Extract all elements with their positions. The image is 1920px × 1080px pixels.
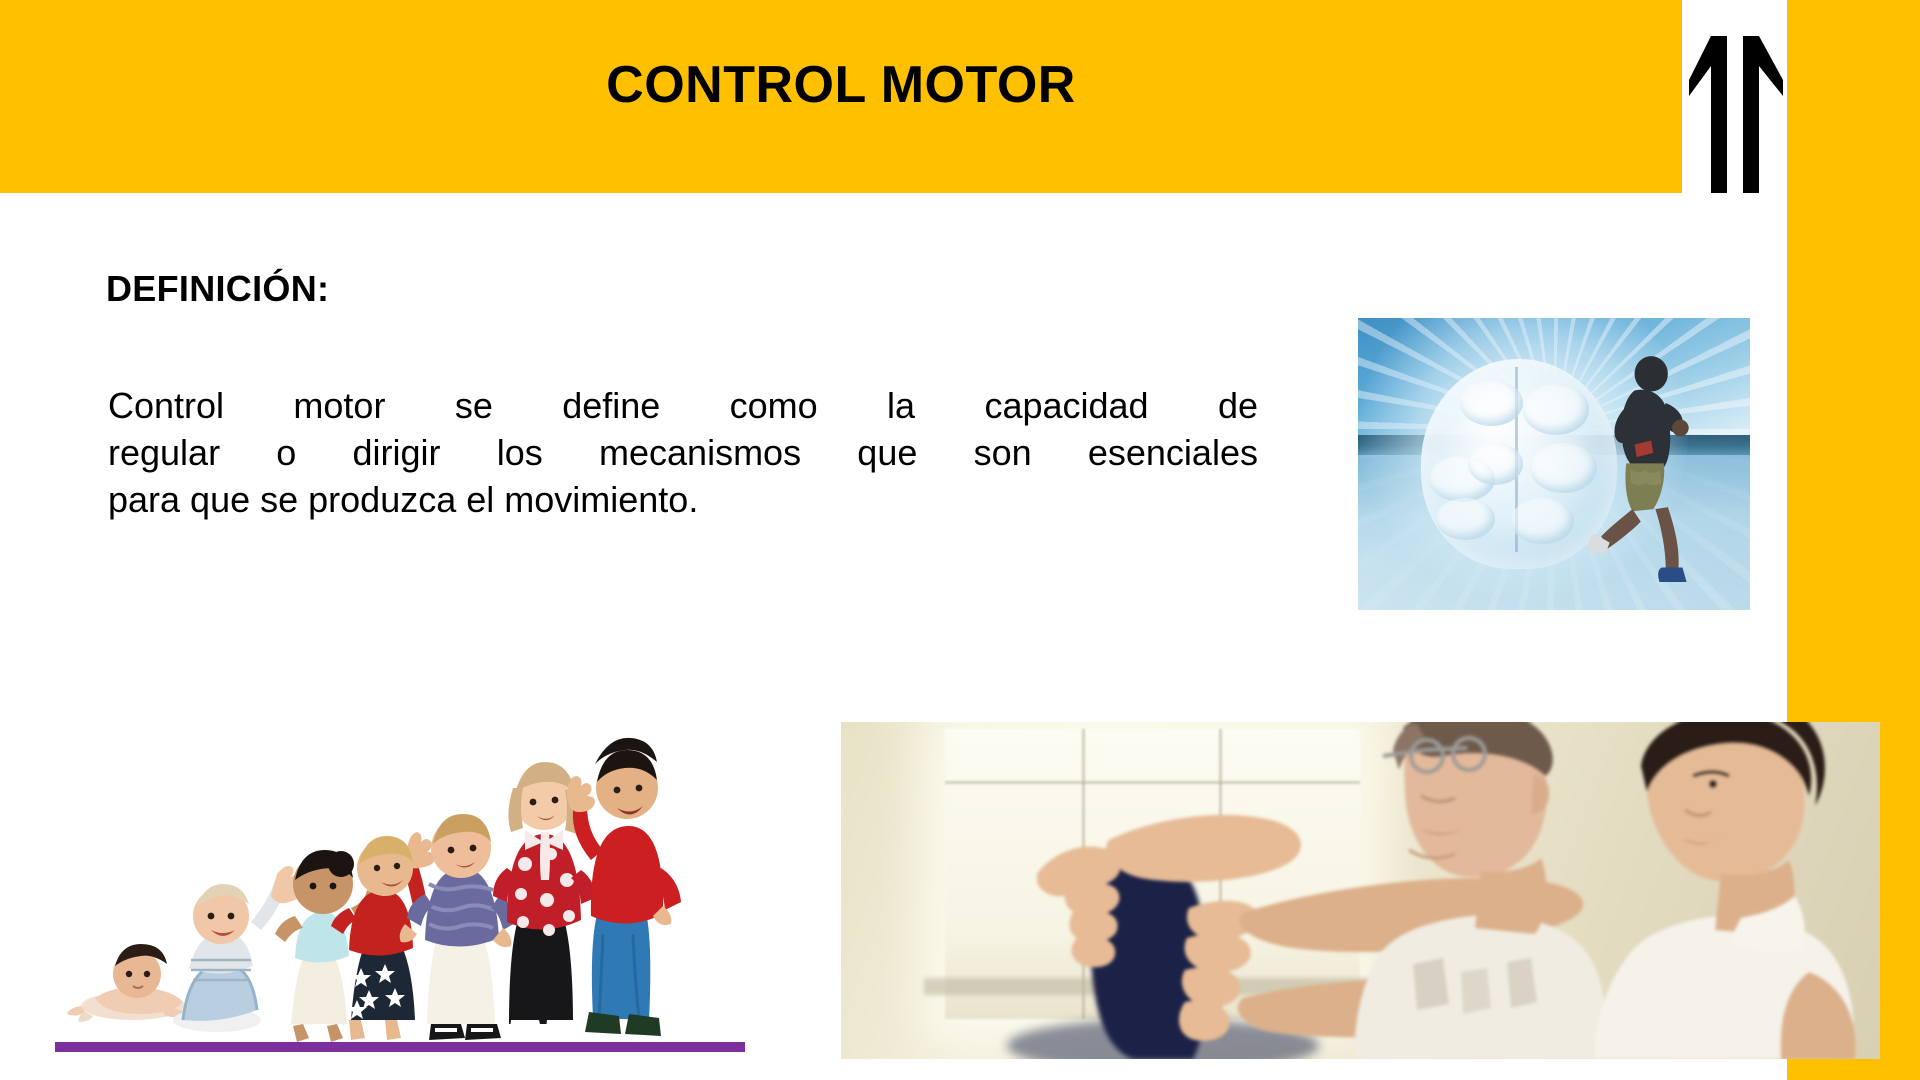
definition-word: o — [276, 430, 296, 477]
slide-canvas: CONTROL MOTOR DEFINICIÓN: Controlmotorse… — [0, 0, 1920, 1080]
definition-word: como — [730, 383, 818, 430]
definition-line-3: para que se produzca el movimiento. — [108, 477, 1258, 524]
definition-word: motor — [293, 383, 385, 430]
image-children-development — [55, 668, 745, 1044]
runner-figure-icon — [1570, 353, 1703, 592]
page-title: CONTROL MOTOR — [0, 58, 1682, 113]
therapy-people-figures — [841, 722, 1880, 1059]
definition-word: que — [857, 430, 917, 477]
definition-line-2: regularodirigirlosmecanismosquesonesenci… — [108, 430, 1258, 477]
definition-word: la — [887, 383, 915, 430]
definition-word: regular — [108, 430, 220, 477]
definition-word: Control — [108, 383, 224, 430]
definition-paragraph: Controlmotorsedefinecomolacapacidadde re… — [108, 383, 1258, 523]
children-image-underline — [55, 1042, 745, 1052]
definition-line-1: Controlmotorsedefinecomolacapacidadde — [108, 383, 1258, 430]
definition-word: se — [455, 383, 493, 430]
definition-word: son — [974, 430, 1032, 477]
definition-heading: DEFINICIÓN: — [106, 268, 329, 310]
definition-word: mecanismos — [599, 430, 801, 477]
definition-word: los — [497, 430, 543, 477]
definition-word: dirigir — [353, 430, 441, 477]
definition-word: de — [1218, 383, 1258, 430]
double-chevron-arrow-logo — [1687, 30, 1791, 193]
definition-word: define — [562, 383, 660, 430]
definition-word: esenciales — [1088, 430, 1258, 477]
image-therapy-session — [841, 722, 1880, 1059]
image-brain-runner — [1358, 318, 1750, 610]
definition-word: capacidad — [984, 383, 1148, 430]
